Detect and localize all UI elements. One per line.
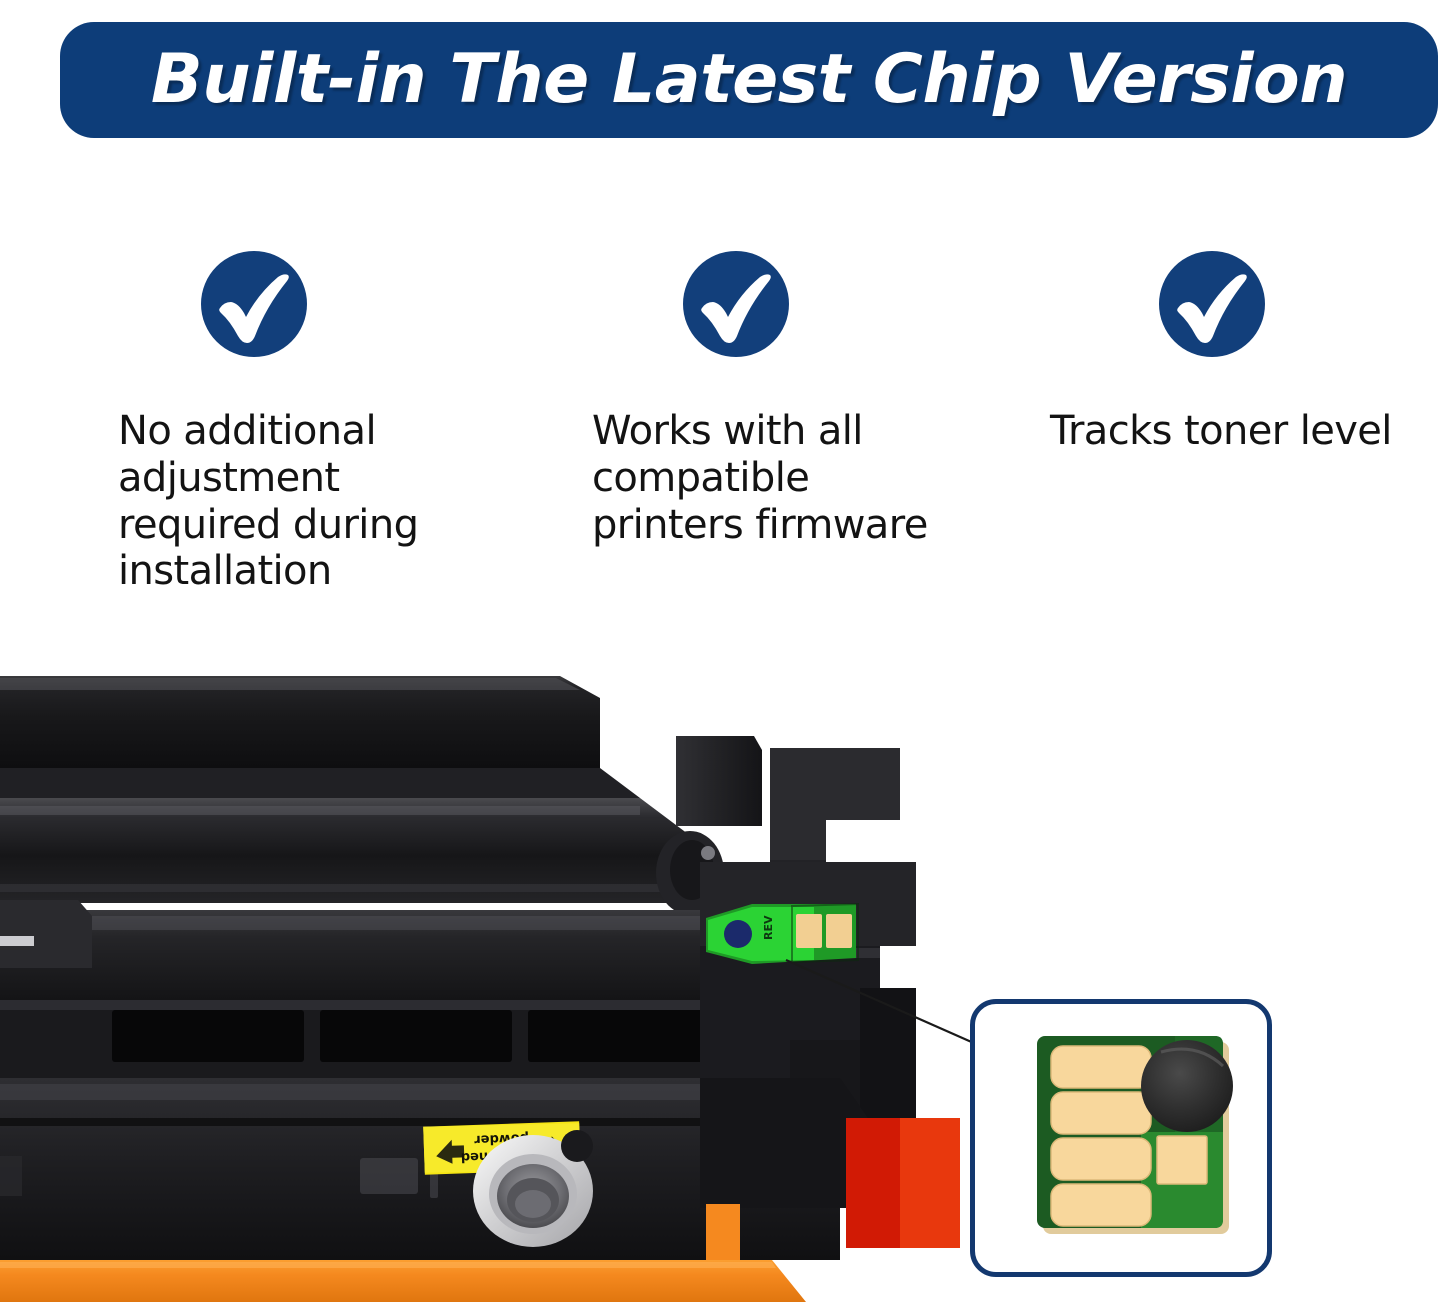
svg-text:REV: REV xyxy=(762,915,775,940)
cartridge-top-shell xyxy=(0,676,640,798)
check-circle-icon xyxy=(1158,250,1266,358)
cartridge-drum-roller xyxy=(0,798,724,915)
feature-label: Tracks toner level xyxy=(1050,408,1445,455)
feature-label: Works with all compatible printers firmw… xyxy=(592,408,1032,548)
cartridge-left-tab xyxy=(0,900,92,968)
check-circle-icon xyxy=(200,250,308,358)
chip-pad-1 xyxy=(1051,1046,1151,1088)
chip-pad-2 xyxy=(1051,1092,1151,1134)
feature-item-firmware: Works with all compatible printers firmw… xyxy=(682,250,790,358)
feature-list: No additional adjustment required during… xyxy=(0,250,1445,650)
cartridge-vent-slots xyxy=(0,1000,800,1078)
cartridge-chip-green: REV xyxy=(706,904,858,964)
cartridge-mid-panel xyxy=(0,910,770,1000)
chip-pad-5 xyxy=(1157,1136,1207,1184)
chip-pad-4 xyxy=(1051,1184,1151,1226)
check-circle-icon xyxy=(682,250,790,358)
cartridge-right-assembly xyxy=(676,736,960,1260)
chip-detail-callout xyxy=(970,999,1272,1277)
feature-item-toner-level: Tracks toner level xyxy=(1158,250,1266,358)
page-title: Built-in The Latest Chip Version xyxy=(151,46,1347,114)
feature-item-no-adjustment: No additional adjustment required during… xyxy=(196,250,308,358)
header-banner: Built-in The Latest Chip Version xyxy=(60,22,1438,138)
feature-label: No additional adjustment required during… xyxy=(118,408,538,595)
chip-contact-component xyxy=(1141,1040,1233,1132)
chip-pad-3 xyxy=(1051,1138,1151,1180)
